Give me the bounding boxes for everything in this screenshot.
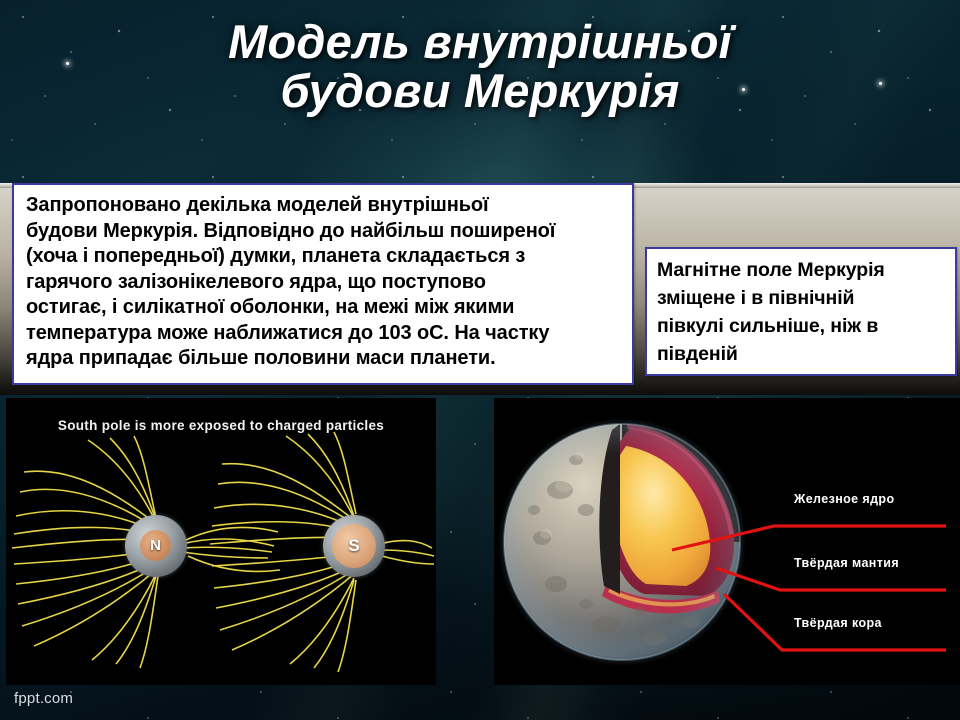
magnetic-field-textbox: Магнітне поле Меркурія зміщене і в півні… [645, 247, 957, 376]
side-text-line: Магнітне поле Меркурія [657, 256, 947, 284]
mercury-cross-section-icon [494, 398, 960, 685]
label-solid-crust: Твёрдая кора [794, 616, 882, 630]
main-text-line: остигає, і силікатної оболонки, на межі … [26, 295, 622, 321]
main-text-line: (хоча і попередньої) думки, планета скла… [26, 244, 622, 270]
main-text-line: ядра припадає більше половини маси плане… [26, 346, 622, 372]
mercury-cutaway-image: Железное ядро Твёрдая мантия Твёрдая кор… [494, 398, 960, 685]
main-text-line: будови Меркурія. Відповідно до найбільш … [26, 219, 622, 245]
main-text-line: Запропоновано декілька моделей внутрішнь… [26, 193, 622, 219]
magnetosphere-image: South pole is more exposed to charged pa… [6, 398, 436, 685]
main-description-textbox: Запропоновано декілька моделей внутрішнь… [12, 183, 634, 385]
title-line-2: будови Меркурія [0, 67, 960, 116]
main-text-line: гарячого залізонікелевого ядра, що посту… [26, 270, 622, 296]
title-line-1: Модель внутрішньої [0, 18, 960, 67]
side-text-line: зміщене і в північній [657, 284, 947, 312]
main-text-line: температура може наближатися до 103 oC. … [26, 321, 622, 347]
page-title: Модель внутрішньої будови Меркурія [0, 18, 960, 116]
north-pole-marker: N [140, 530, 171, 561]
label-iron-core: Железное ядро [794, 492, 895, 506]
side-text-line: південій [657, 340, 947, 368]
watermark: fppt.com [14, 690, 73, 707]
label-solid-mantle: Твёрдая мантия [794, 556, 899, 570]
south-pole-marker: S [332, 524, 376, 568]
side-text-line: півкулі сильніше, ніж в [657, 312, 947, 340]
slide-canvas: Модель внутрішньої будови Меркурія Запро… [0, 0, 960, 720]
